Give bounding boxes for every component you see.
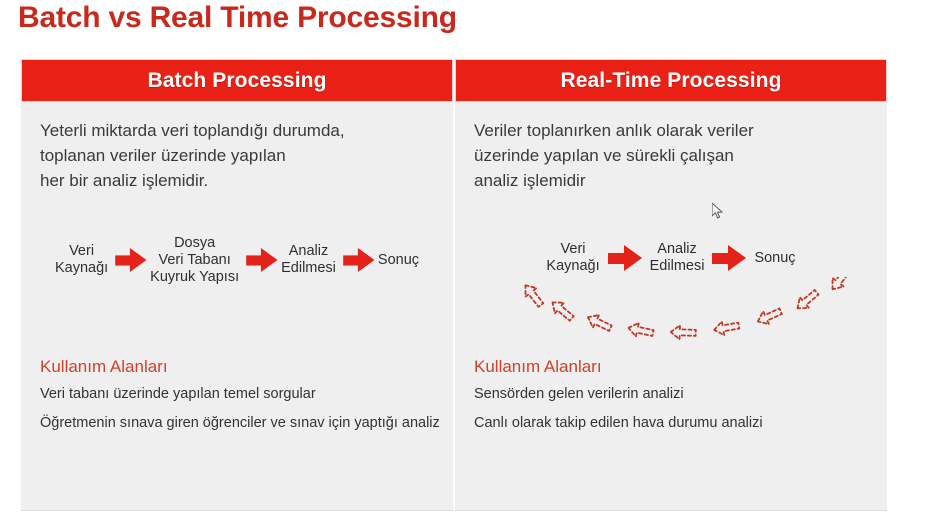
flow-node-storage: Dosya Veri Tabanı Kuyruk Yapısı [150,235,239,286]
flow-node-line: Veri [546,241,599,258]
flow-node-result: Sonuç [754,250,795,267]
feedback-arrow-icon [520,281,546,309]
batch-usage-section: Kullanım Alanları Veri tabanı üzerinde y… [40,357,445,442]
right-arrow-icon [712,243,746,273]
right-arrow-icon [608,243,642,273]
description-line: üzerinde yapılan ve sürekli çalışan [474,143,874,168]
panel-header-batch: Batch Processing [21,59,453,102]
right-arrow-icon [246,246,274,274]
arrow-head [261,248,278,272]
usage-title: Kullanım Alanları [40,357,445,377]
flow-node-line: Analiz [650,241,705,258]
usage-item: Canlı olarak takip edilen hava durumu an… [474,413,879,433]
flow-node-line: Edilmesi [650,258,705,275]
usage-item: Sensörden gelen verilerin analizi [474,384,879,404]
panel-header-label: Batch Processing [148,69,327,93]
realtime-usage-section: Kullanım Alanları Sensörden gelen verile… [474,357,879,442]
description-line: her bir analiz işlemidir. [40,168,440,193]
flow-node-data-source: Veri Kaynağı [546,241,599,275]
right-arrow-icon [343,246,371,274]
feedback-arrow-icon [793,287,821,314]
usage-item: Veri tabanı üzerinde yapılan temel sorgu… [40,384,445,404]
flow-node-line: Sonuç [754,250,795,267]
arrow-wrap [108,245,150,275]
right-arrow-icon [115,246,143,274]
feedback-arrow-icon [627,321,654,340]
feedback-arrow-icon [548,297,576,324]
arrow-wrap [704,243,754,273]
flow-node-line: Kaynağı [55,260,108,277]
flow-node-line: Sonuç [378,252,419,269]
feedback-arrow-icon [671,325,696,340]
flow-node-line: Kaynağı [546,258,599,275]
batch-description: Yeterli miktarda veri toplandığı durumda… [40,118,440,193]
flow-node-line: Dosya [150,235,239,252]
panel-header-realtime: Real-Time Processing [455,59,887,102]
feedback-loop-arc [455,277,887,347]
feedback-arrow-icon [827,277,853,294]
description-line: Yeterli miktarda veri toplandığı durumda… [40,118,440,143]
arrow-head [130,248,147,272]
description-line: Veriler toplanırken anlık olarak veriler [474,118,874,143]
usage-item: Öğretmenin sınava giren öğrenciler ve sı… [40,413,445,433]
usage-title: Kullanım Alanları [474,357,879,377]
description-line: toplanan veriler üzerinde yapılan [40,143,440,168]
flow-node-line: Veri Tabanı [150,252,239,269]
batch-flow-diagram: Veri Kaynağı Dosya Veri Tabanı Kuyruk Ya… [21,229,453,291]
flow-node-result: Sonuç [378,252,419,269]
flow-node-line: Veri [55,243,108,260]
feedback-arrow-icon [755,305,784,328]
flow-node-analysis: Analiz Edilmesi [281,243,336,277]
description-line: analiz işlemidir [474,168,874,193]
realtime-processing-panel: Real-Time Processing Veriler toplanırken… [455,59,887,511]
feedback-arrow-icon [713,319,740,337]
arrow-wrap [336,245,378,275]
arrow-wrap [600,243,650,273]
realtime-description: Veriler toplanırken anlık olarak veriler… [474,118,874,193]
flow-node-data-source: Veri Kaynağı [55,243,108,277]
batch-processing-panel: Batch Processing Yeterli miktarda veri t… [21,59,453,511]
flow-node-analysis: Analiz Edilmesi [650,241,705,275]
feedback-arrow-icon [585,311,614,335]
feedback-arrows-svg [455,277,887,347]
flow-node-line: Analiz [281,243,336,260]
flow-node-line: Edilmesi [281,260,336,277]
mouse-cursor-icon [712,203,724,219]
arrow-head [358,248,375,272]
arrow-head [624,245,642,271]
arrow-head [728,245,746,271]
panel-header-label: Real-Time Processing [560,69,781,93]
arrow-wrap [239,245,281,275]
flow-node-line: Kuyruk Yapısı [150,269,239,286]
page-title: Batch vs Real Time Processing [18,1,457,35]
